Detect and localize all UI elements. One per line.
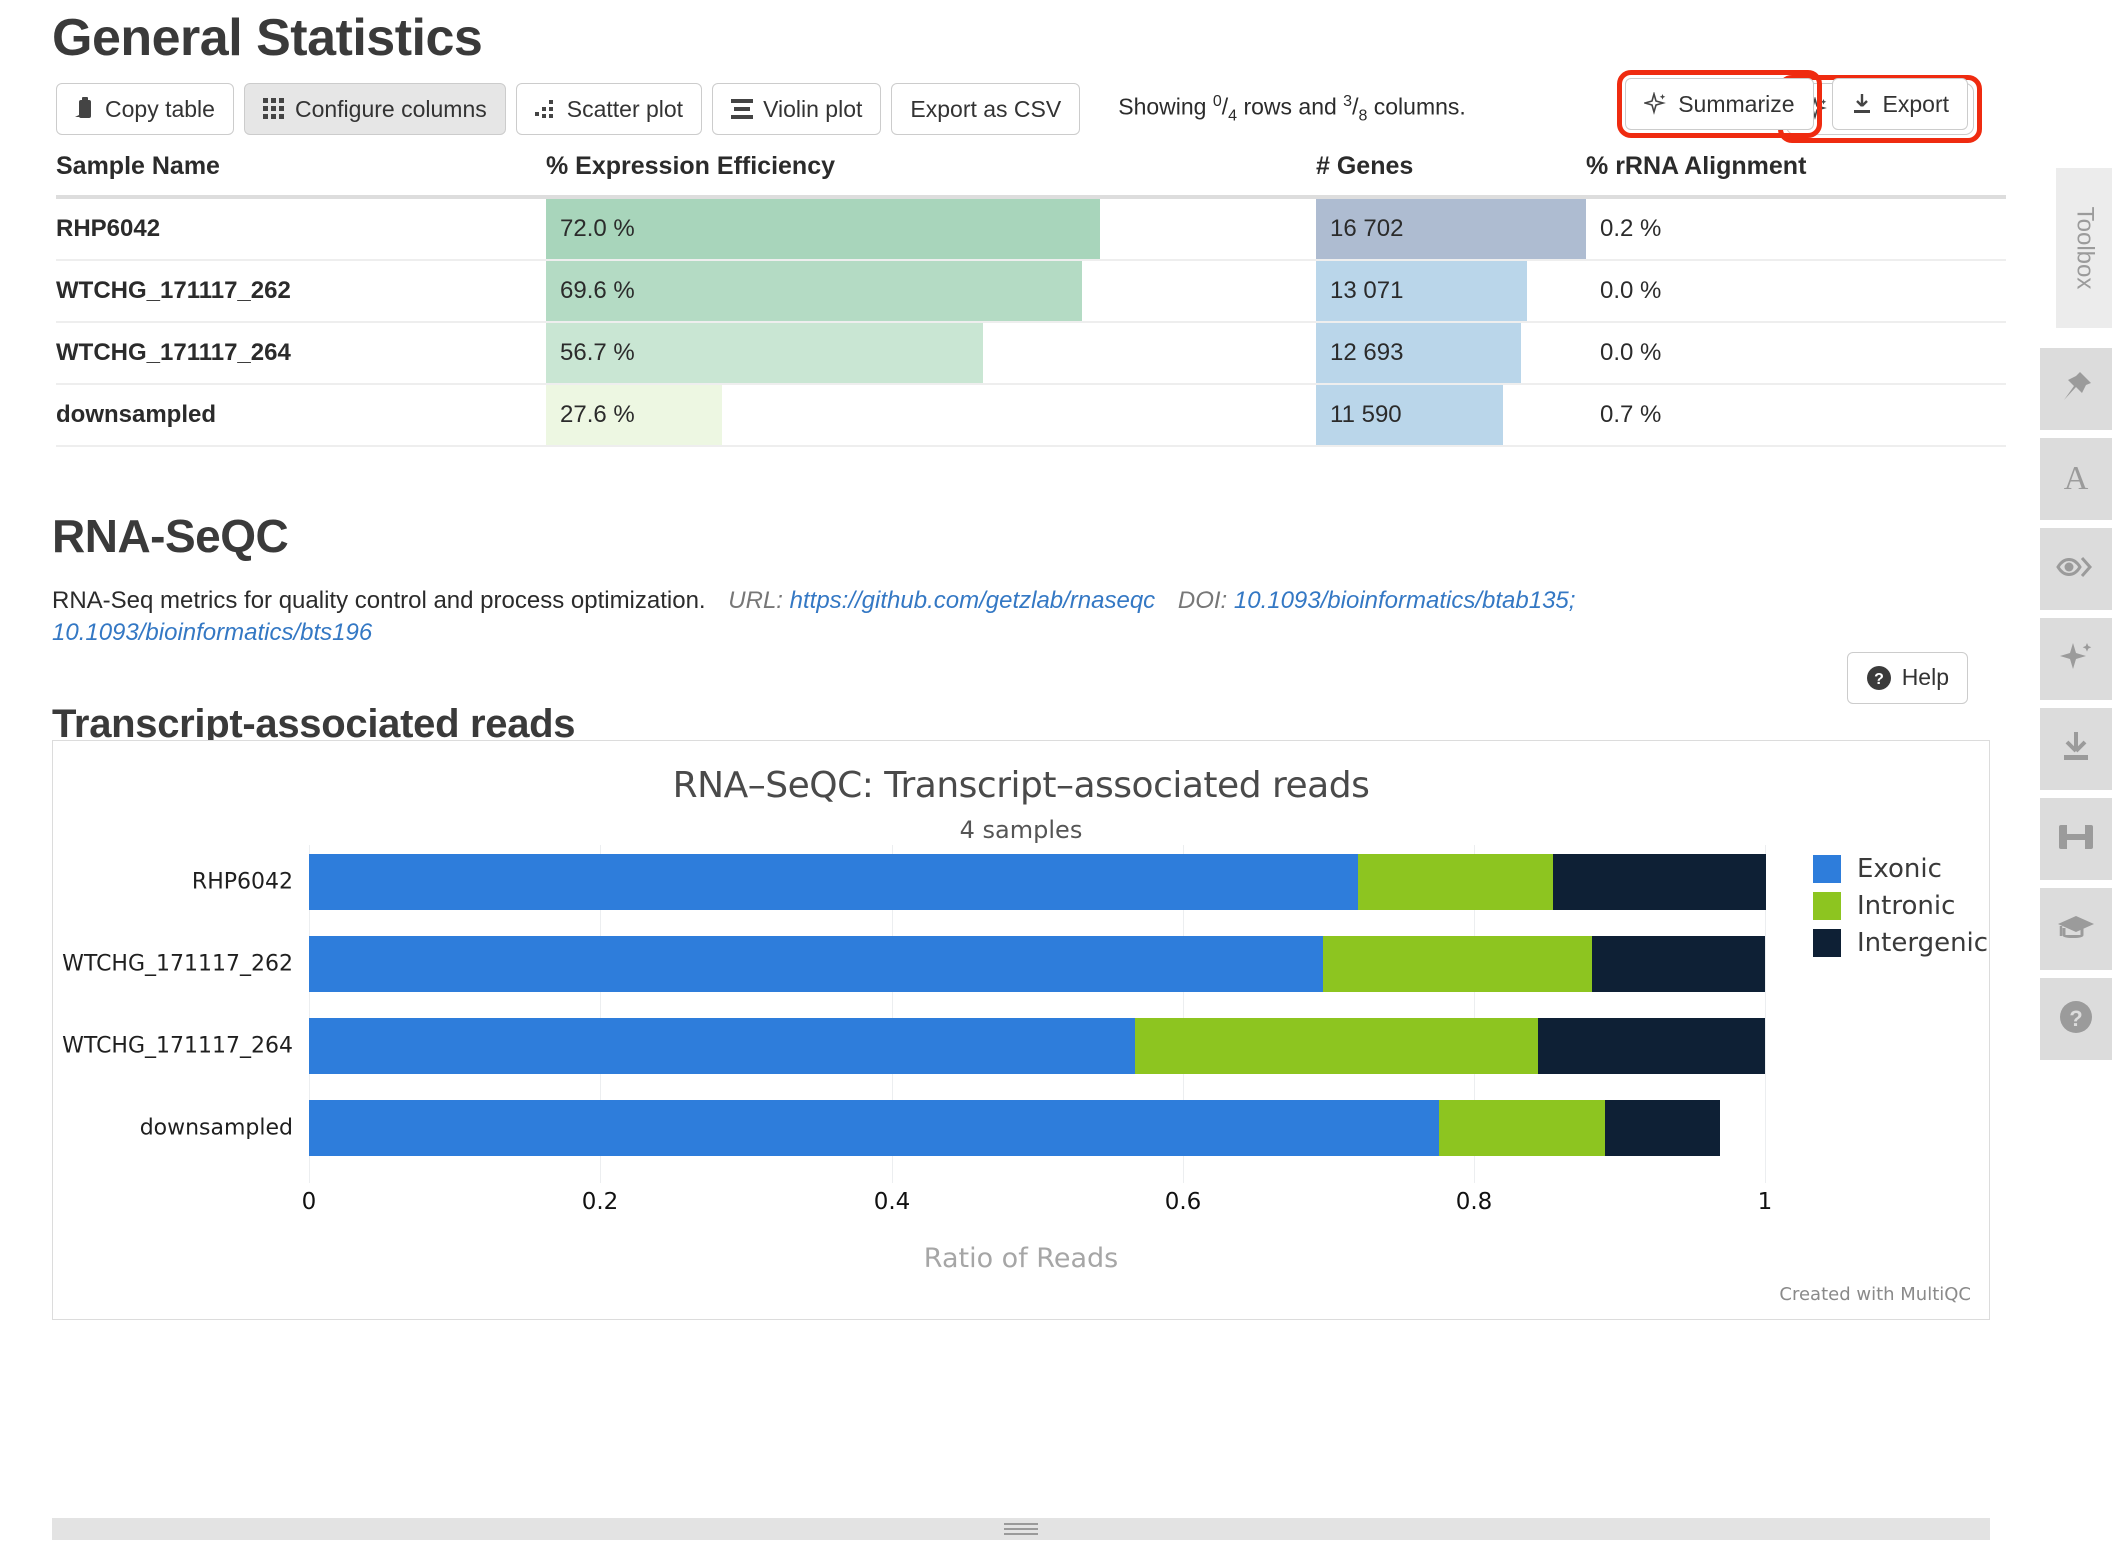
- legend-item[interactable]: Intergenic: [1813, 925, 1988, 962]
- save-icon: [2057, 821, 2095, 858]
- cell-sample-name: downsampled: [56, 384, 546, 446]
- help-label: Help: [1902, 664, 1949, 691]
- help-circle-icon: ?: [1866, 665, 1892, 691]
- grid-icon: [263, 98, 285, 120]
- stacked-bar[interactable]: [309, 854, 1766, 910]
- multiqc-credit: Created with MultiQC: [1779, 1284, 1971, 1305]
- rows-total-count: 4: [1228, 107, 1237, 124]
- cell-rrna-alignment: 0.0 %: [1586, 322, 2006, 384]
- module-url-link[interactable]: https://github.com/getzlab/rnaseqc: [790, 587, 1156, 614]
- rows-shown-count: 0: [1213, 93, 1222, 110]
- cell-sample-name: RHP6042: [56, 197, 546, 260]
- pin-icon: [2057, 368, 2095, 411]
- export-csv-button[interactable]: Export as CSV: [891, 83, 1080, 135]
- violin-plot-button[interactable]: Violin plot: [712, 83, 881, 135]
- cell-expression-efficiency: 69.6 %: [546, 260, 1316, 322]
- bar-segment-intergenic[interactable]: [1553, 854, 1766, 910]
- plot-summarize-button[interactable]: Summarize: [1625, 78, 1813, 130]
- stacked-bar[interactable]: [309, 1100, 1720, 1156]
- chart-y-axis-labels: RHP6042 WTCHG_171117_262 WTCHG_171117_26…: [53, 845, 293, 1175]
- cell-genes: 16 702: [1316, 197, 1586, 260]
- chart-legend: Exonic Intronic Intergenic: [1813, 851, 1988, 962]
- bar-segment-intronic[interactable]: [1358, 854, 1553, 910]
- toolbox-label: Toolbox: [2070, 207, 2098, 290]
- cols-shown-count: 3: [1343, 93, 1352, 110]
- chart-x-axis-title: Ratio of Reads: [53, 1243, 1989, 1274]
- y-tick-label: WTCHG_171117_262: [62, 951, 293, 976]
- bar-segment-intronic[interactable]: [1135, 1018, 1538, 1074]
- url-label: URL:: [728, 587, 783, 614]
- download-icon: [1851, 93, 1873, 115]
- section-header-row: Transcript-associated reads ? Help: [0, 650, 2030, 706]
- table-header-row: Sample Name % Expression Efficiency # Ge…: [56, 152, 2006, 197]
- plot-summarize-label: Summarize: [1678, 91, 1794, 118]
- cols-total-count: 8: [1358, 107, 1367, 124]
- chart-title: RNA–SeQC: Transcript–associated reads: [53, 765, 1989, 806]
- table-row[interactable]: downsampled 27.6 % 11 590 0.7 %: [56, 384, 2006, 446]
- toolbox-ai-button[interactable]: [2040, 618, 2112, 700]
- sparkle-icon: [2057, 638, 2095, 681]
- plot-resize-strip[interactable]: [52, 1518, 1990, 1540]
- cell-genes: 11 590: [1316, 384, 1586, 446]
- scatter-icon: [535, 98, 557, 120]
- toolbox-font-button[interactable]: A: [2040, 438, 2112, 520]
- bar-segment-intergenic[interactable]: [1538, 1018, 1765, 1074]
- cell-rrna-alignment: 0.7 %: [1586, 384, 2006, 446]
- bar-segment-intronic[interactable]: [1323, 936, 1592, 992]
- x-tick-label: 0.4: [874, 1189, 911, 1215]
- cell-genes: 13 071: [1316, 260, 1586, 322]
- general-statistics-table: Sample Name % Expression Efficiency # Ge…: [56, 152, 2006, 447]
- plot-summarize-highlight-ring: Summarize: [1617, 70, 1821, 138]
- download-icon: [2057, 728, 2095, 771]
- cell-rrna-alignment: 0.2 %: [1586, 197, 2006, 260]
- plot-card: RNA–SeQC: Transcript–associated reads 4 …: [52, 740, 1990, 1320]
- y-tick-label: RHP6042: [192, 869, 293, 894]
- toolbox-rail: Toolbox A ?: [2030, 0, 2120, 1544]
- resize-grip-icon[interactable]: [1004, 1523, 1038, 1535]
- violin-icon: [731, 98, 753, 120]
- cell-sample-name: WTCHG_171117_264: [56, 322, 546, 384]
- x-tick-label: 0.2: [582, 1189, 619, 1215]
- help-circle-icon: ?: [2057, 998, 2095, 1041]
- toolbox-hide-samples-button[interactable]: [2040, 528, 2112, 610]
- configure-columns-button[interactable]: Configure columns: [244, 83, 506, 135]
- table-row[interactable]: WTCHG_171117_262 69.6 % 13 071 0.0 %: [56, 260, 2006, 322]
- legend-label: Exonic: [1857, 854, 1942, 884]
- plot-export-label: Export: [1883, 91, 1949, 118]
- plot-action-buttons: Summarize Export: [1617, 70, 1968, 138]
- configure-columns-label: Configure columns: [295, 96, 487, 123]
- toolbox-tab[interactable]: Toolbox: [2056, 168, 2112, 328]
- chart-x-axis: 0 0.2 0.4 0.6 0.8 1: [309, 1183, 1766, 1223]
- copy-table-button[interactable]: Copy table: [56, 83, 234, 135]
- bar-segment-intergenic[interactable]: [1605, 1100, 1720, 1156]
- legend-swatch-intergenic: [1813, 929, 1841, 957]
- svg-text:?: ?: [2069, 1006, 2082, 1031]
- column-header-sample-name[interactable]: Sample Name: [56, 152, 546, 197]
- eye-slash-icon: [2056, 552, 2096, 587]
- page-title: General Statistics: [52, 8, 2030, 68]
- svg-text:?: ?: [1874, 671, 1884, 688]
- scatter-plot-button[interactable]: Scatter plot: [516, 83, 702, 135]
- violin-plot-label: Violin plot: [763, 96, 862, 123]
- chart-subtitle: 4 samples: [53, 816, 1989, 844]
- column-header-rrna-alignment[interactable]: % rRNA Alignment: [1586, 152, 2006, 197]
- sparkle-icon: [1644, 92, 1668, 116]
- legend-item[interactable]: Exonic: [1813, 851, 1988, 888]
- module-doi-link-1[interactable]: 10.1093/bioinformatics/btab135;: [1234, 587, 1576, 614]
- bar-segment-intergenic[interactable]: [1592, 936, 1765, 992]
- chart-bars: [309, 845, 1766, 1175]
- y-tick-label: downsampled: [140, 1115, 293, 1140]
- stacked-bar[interactable]: [309, 1018, 1765, 1074]
- scatter-plot-label: Scatter plot: [567, 96, 683, 123]
- graduation-cap-icon: [2056, 912, 2096, 947]
- chart-plot-area: RHP6042 WTCHG_171117_262 WTCHG_171117_26…: [53, 845, 1989, 1245]
- cell-genes: 12 693: [1316, 322, 1586, 384]
- doi-label: DOI:: [1178, 587, 1227, 614]
- toolbox-help-docs-button[interactable]: [2040, 888, 2112, 970]
- legend-item[interactable]: Intronic: [1813, 888, 1988, 925]
- cell-expression-efficiency: 56.7 %: [546, 322, 1316, 384]
- x-tick-label: 0.8: [1456, 1189, 1493, 1215]
- help-button[interactable]: ? Help: [1847, 652, 1968, 704]
- font-icon: A: [2057, 458, 2095, 501]
- bar-segment-exonic[interactable]: [309, 854, 1358, 910]
- module-description-text: RNA-Seq metrics for quality control and …: [52, 587, 706, 614]
- copy-table-label: Copy table: [105, 96, 215, 123]
- y-tick-label: WTCHG_171117_264: [62, 1033, 293, 1058]
- cell-expression-efficiency: 72.0 %: [546, 197, 1316, 260]
- bar-segment-exonic[interactable]: [309, 1100, 1439, 1156]
- help-button-wrap: ? Help: [1847, 652, 1968, 704]
- column-header-genes[interactable]: # Genes: [1316, 152, 1586, 197]
- column-header-expression-efficiency[interactable]: % Expression Efficiency: [546, 152, 1316, 197]
- plot-export-button[interactable]: Export: [1832, 78, 1968, 130]
- module-doi-link-2[interactable]: 10.1093/bioinformatics/bts196: [52, 619, 372, 646]
- module-title: RNA-SeQC: [52, 509, 2030, 563]
- cell-sample-name: WTCHG_171117_262: [56, 260, 546, 322]
- legend-swatch-intronic: [1813, 892, 1841, 920]
- report-page: General Statistics Copy table Configure …: [0, 0, 2030, 1544]
- table-row[interactable]: WTCHG_171117_264 56.7 % 12 693 0.0 %: [56, 322, 2006, 384]
- x-tick-label: 0.6: [1165, 1189, 1202, 1215]
- toolbox-save-button[interactable]: [2040, 798, 2112, 880]
- x-tick-label: 1: [1758, 1189, 1773, 1215]
- svg-text:A: A: [2064, 460, 2089, 496]
- stacked-bar[interactable]: [309, 936, 1765, 992]
- toolbox-about-button[interactable]: ?: [2040, 978, 2112, 1060]
- legend-label: Intergenic: [1857, 928, 1988, 958]
- table-row[interactable]: RHP6042 72.0 % 16 702 0.2 %: [56, 197, 2006, 260]
- cell-expression-efficiency: 27.6 %: [546, 384, 1316, 446]
- export-csv-label: Export as CSV: [910, 96, 1061, 123]
- bar-segment-intronic[interactable]: [1439, 1100, 1605, 1156]
- bar-segment-exonic[interactable]: [309, 936, 1323, 992]
- legend-label: Intronic: [1857, 891, 1955, 921]
- showing-counts: Showing 0/4 rows and 3/8 columns.: [1118, 93, 1466, 125]
- bar-segment-exonic[interactable]: [309, 1018, 1135, 1074]
- clipboard-icon: [75, 97, 95, 121]
- module-description: RNA-Seq metrics for quality control and …: [52, 585, 1752, 650]
- cell-rrna-alignment: 0.0 %: [1586, 260, 2006, 322]
- legend-swatch-exonic: [1813, 855, 1841, 883]
- table-body: RHP6042 72.0 % 16 702 0.2 % WTCHG_171117…: [56, 197, 2006, 446]
- toolbox-download-button[interactable]: [2040, 708, 2112, 790]
- x-tick-label: 0: [302, 1189, 317, 1215]
- toolbox-pin-button[interactable]: [2040, 348, 2112, 430]
